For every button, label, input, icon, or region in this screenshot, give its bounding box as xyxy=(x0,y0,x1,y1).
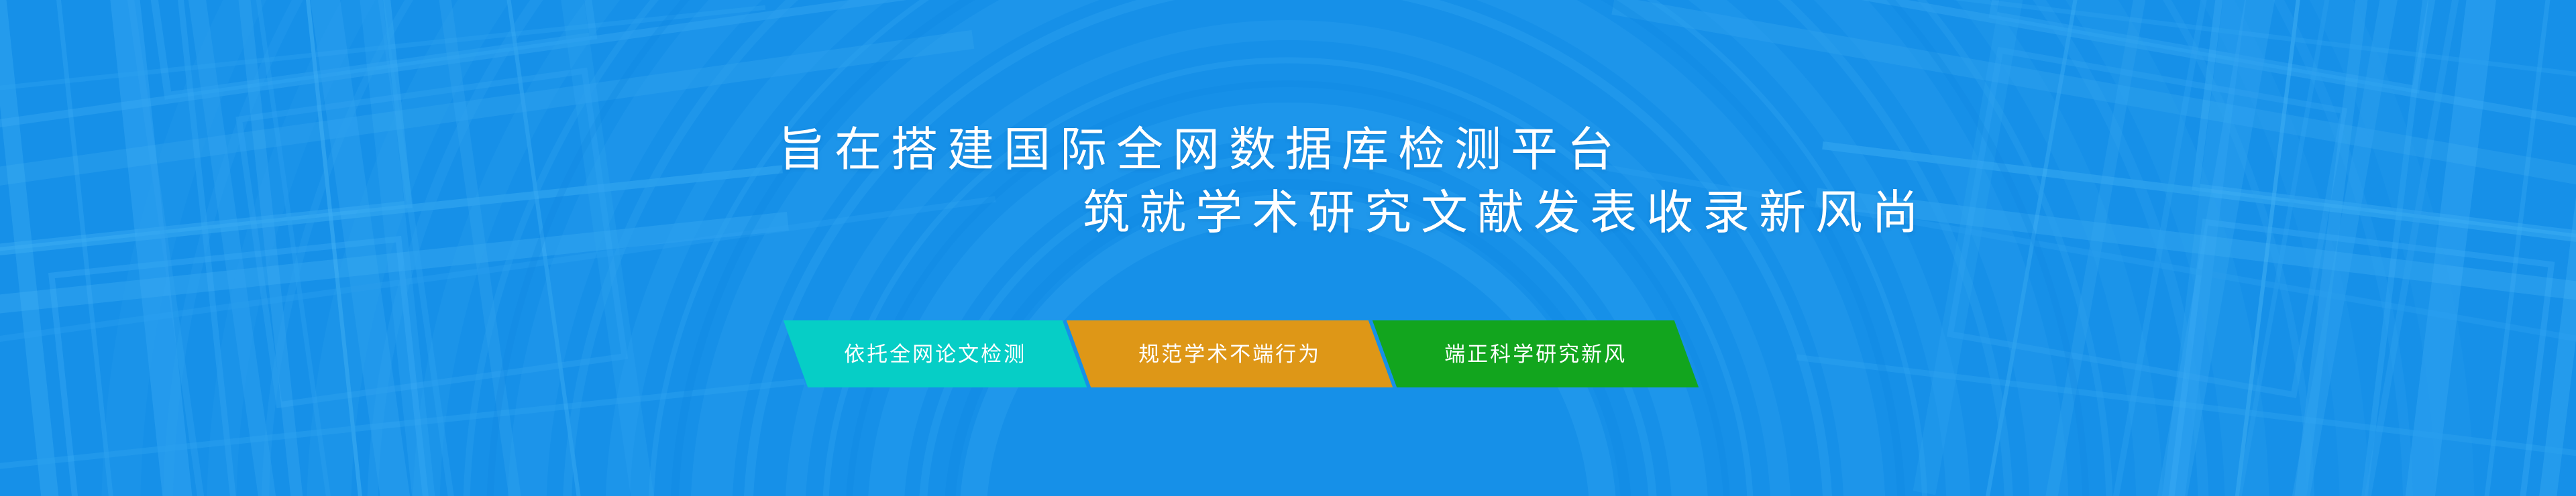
arc-pattern-decoration xyxy=(0,0,2576,496)
feature-tag-label: 规范学术不端行为 xyxy=(1138,344,1321,365)
feature-tag-band: 依托全网论文检测 规范学术不端行为 端正科学研究新风 xyxy=(784,320,1686,387)
feature-tag-label: 依托全网论文检测 xyxy=(844,344,1026,365)
feature-tag-research-integrity[interactable]: 端正科学研究新风 xyxy=(1373,320,1699,387)
promo-banner: 旨在搭建国际全网数据库检测平台 筑就学术研究文献发表收录新风尚 依托全网论文检测… xyxy=(0,0,2576,496)
headline-line-1: 旨在搭建国际全网数据库检测平台 xyxy=(0,118,2576,181)
feature-tag-label: 端正科学研究新风 xyxy=(1444,344,1627,365)
headline-block: 旨在搭建国际全网数据库检测平台 筑就学术研究文献发表收录新风尚 xyxy=(0,118,2576,244)
feature-tag-plagiarism-detection[interactable]: 依托全网论文检测 xyxy=(784,320,1087,387)
headline-line-2: 筑就学术研究文献发表收录新风尚 xyxy=(0,181,2576,244)
grid-pattern-decoration xyxy=(0,0,2576,496)
feature-tag-academic-misconduct[interactable]: 规范学术不端行为 xyxy=(1067,320,1393,387)
